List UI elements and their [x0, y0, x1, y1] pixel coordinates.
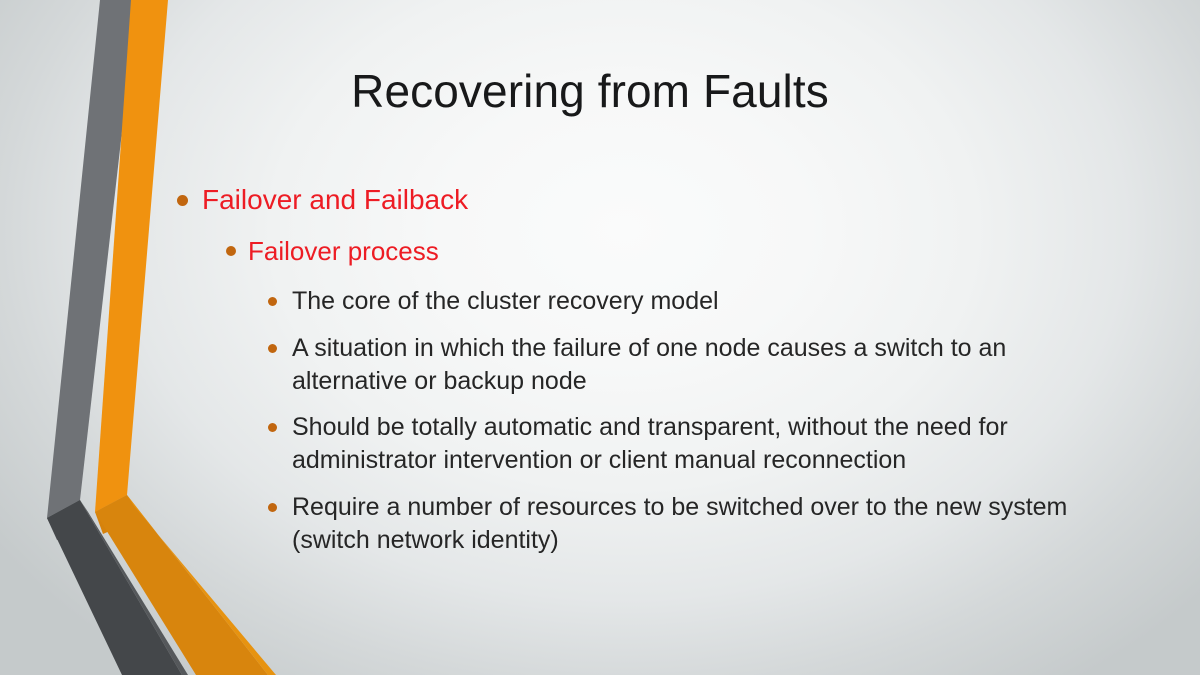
bullet-marker-icon: [226, 246, 236, 256]
bullet-text: Require a number of resources to be swit…: [292, 491, 1070, 558]
presentation-slide: Recovering from Faults Failover and Fail…: [0, 0, 1200, 675]
bullet-marker-icon: [268, 423, 277, 432]
bullet-marker-icon: [268, 297, 277, 306]
bullet-marker-icon: [268, 344, 277, 353]
bullet-text: Failover process: [248, 234, 1130, 268]
bullet-level3: The core of the cluster recovery model: [0, 285, 1130, 318]
bullet-text: Should be totally automatic and transpar…: [292, 411, 1070, 478]
bullet-level3: A situation in which the failure of one …: [0, 332, 1130, 399]
bullet-text: The core of the cluster recovery model: [292, 285, 1070, 318]
bullet-level3: Should be totally automatic and transpar…: [0, 411, 1130, 478]
slide-title: Recovering from Faults: [120, 66, 1060, 118]
bullet-marker-icon: [177, 195, 188, 206]
bullet-level2: Failover process: [0, 234, 1130, 268]
bullet-level3: Require a number of resources to be swit…: [0, 491, 1130, 558]
bullet-text: A situation in which the failure of one …: [292, 332, 1070, 399]
slide-body-content: Failover and Failback Failover process T…: [0, 182, 1130, 570]
bullet-marker-icon: [268, 503, 277, 512]
bullet-text: Failover and Failback: [202, 182, 1130, 219]
bullet-level1: Failover and Failback: [0, 182, 1130, 219]
